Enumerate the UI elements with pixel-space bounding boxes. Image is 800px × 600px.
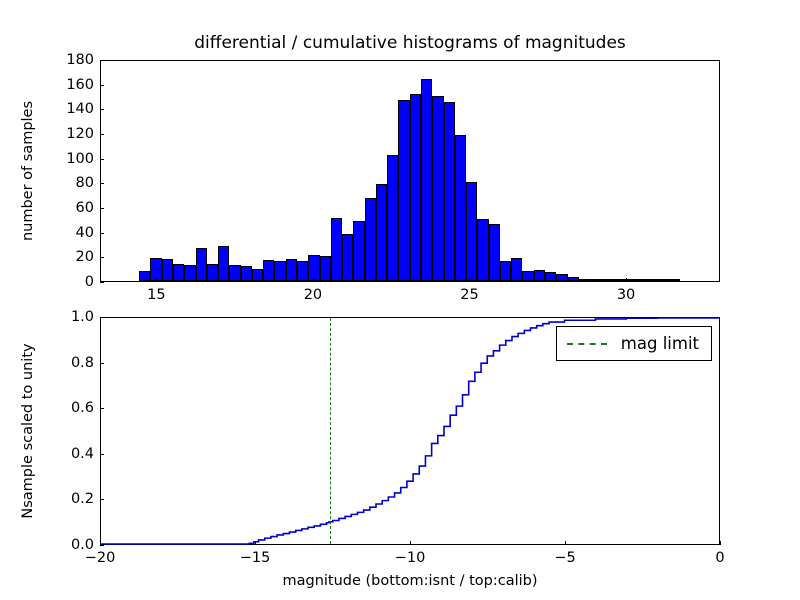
histogram-bar: [342, 234, 353, 281]
x-tickmark: [626, 278, 627, 282]
histogram-bar: [669, 279, 680, 281]
histogram-bar: [466, 182, 477, 281]
y-tickmark: [100, 363, 104, 364]
top-y-axis-label: number of samples: [20, 101, 36, 241]
histogram-bar: [376, 184, 387, 281]
x-tickmark: [156, 278, 157, 282]
histogram-bar: [568, 277, 579, 281]
histogram-bar: [196, 248, 207, 281]
histogram-bar: [421, 79, 432, 281]
histogram-bar: [444, 102, 455, 281]
histogram-bar: [297, 261, 308, 281]
histogram-bar: [545, 272, 556, 281]
bottom-x-axis-label: magnitude (bottom:isnt / top:calib): [100, 573, 720, 589]
bottom-cumulative-axes: mag limit: [100, 317, 720, 545]
histogram-bar: [162, 259, 173, 281]
y-tick-label: 120: [40, 126, 94, 142]
y-tick-label: 40: [40, 225, 94, 241]
y-tick-label: 0.8: [40, 355, 94, 371]
histogram-bar: [658, 279, 669, 281]
x-tick-label: 0: [715, 550, 724, 566]
histogram-bar: [320, 256, 331, 281]
y-tick-label: 1.0: [40, 309, 94, 325]
y-tickmark: [100, 208, 104, 209]
y-tickmark: [100, 134, 104, 135]
histogram-bar: [522, 271, 533, 281]
y-tick-label: 0: [40, 274, 94, 290]
x-tick-label: 20: [304, 287, 322, 303]
y-tickmark: [100, 408, 104, 409]
histogram-bar: [173, 264, 184, 281]
y-tickmark: [100, 159, 104, 160]
y-tick-label: 0.4: [40, 446, 94, 462]
histogram-bar: [477, 219, 488, 281]
y-tick-label: 60: [40, 200, 94, 216]
y-tickmark: [100, 454, 104, 455]
y-tickmark: [100, 60, 104, 61]
y-tick-label: 20: [40, 249, 94, 265]
histogram-bar: [601, 279, 612, 281]
y-tick-label: 180: [40, 52, 94, 68]
histogram-bar: [207, 264, 218, 281]
histogram-bar: [613, 279, 624, 281]
histogram-bar: [579, 279, 590, 281]
y-tickmark: [100, 545, 104, 546]
y-tick-label: 140: [40, 101, 94, 117]
y-tickmark: [100, 499, 104, 500]
x-tick-label: −15: [240, 550, 271, 566]
histogram-bar: [410, 94, 421, 281]
histogram-bar: [398, 100, 409, 281]
y-tickmark: [100, 257, 104, 258]
histogram-bar: [556, 274, 567, 281]
x-tickmark: [410, 541, 411, 545]
x-tick-label: 30: [617, 287, 635, 303]
histogram-bar: [590, 279, 601, 281]
histogram-bar: [534, 270, 545, 281]
histogram-bar: [184, 265, 195, 281]
histogram-bar: [241, 266, 252, 281]
histogram-bar: [511, 258, 522, 281]
x-tick-label: 25: [460, 287, 478, 303]
y-tick-label: 160: [40, 77, 94, 93]
histogram-bar: [489, 224, 500, 281]
y-tick-label: 80: [40, 175, 94, 191]
histogram-bar: [455, 135, 466, 281]
mag-limit-vline: [330, 318, 331, 544]
x-tick-label: −10: [395, 550, 426, 566]
x-tickmark: [720, 541, 721, 545]
histogram-bar: [274, 261, 285, 281]
legend-label-mag-limit: mag limit: [621, 334, 699, 353]
legend: mag limit: [556, 326, 712, 361]
histogram-bar: [252, 269, 263, 281]
x-tickmark: [469, 278, 470, 282]
y-tick-label: 0.2: [40, 491, 94, 507]
chart-title: differential / cumulative histograms of …: [100, 33, 720, 53]
x-tick-label: −20: [85, 550, 116, 566]
histogram-bar: [500, 261, 511, 281]
figure-canvas: differential / cumulative histograms of …: [0, 0, 800, 600]
y-tickmark: [100, 85, 104, 86]
bottom-y-axis-label: Nsample scaled to unity: [20, 343, 36, 518]
y-tickmark: [100, 109, 104, 110]
y-tick-label: 100: [40, 151, 94, 167]
y-tickmark: [100, 317, 104, 318]
histogram-bar: [387, 155, 398, 281]
histogram-bar: [635, 279, 646, 281]
histogram-bar: [331, 218, 342, 281]
histogram-bar: [218, 246, 229, 281]
x-tickmark: [313, 278, 314, 282]
y-tickmark: [100, 233, 104, 234]
histogram-bar: [432, 96, 443, 281]
x-tickmark: [565, 541, 566, 545]
y-tickmark: [100, 183, 104, 184]
mag-limit-legend-swatch-icon: [567, 343, 607, 345]
histogram-bar: [229, 265, 240, 281]
histogram-bar: [286, 259, 297, 281]
x-tickmark: [100, 541, 101, 545]
histogram-bar: [139, 271, 150, 281]
histogram-bar: [646, 279, 657, 281]
top-histogram-axes: [100, 60, 720, 282]
histogram-bar: [263, 260, 274, 281]
x-tick-label: 15: [147, 287, 165, 303]
histogram-bar: [353, 221, 364, 281]
histogram-bar: [365, 198, 376, 281]
y-tickmark: [100, 282, 104, 283]
x-tickmark: [255, 541, 256, 545]
x-tick-label: −5: [554, 550, 575, 566]
y-tick-label: 0.6: [40, 400, 94, 416]
histogram-bars-layer: [101, 61, 719, 281]
